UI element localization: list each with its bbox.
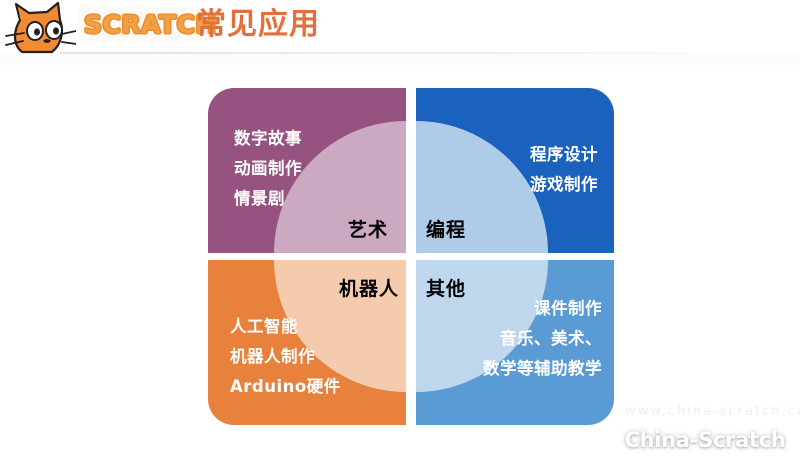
list-item: Arduino硬件: [230, 372, 341, 402]
quadrant-programming-label: 编程: [426, 215, 466, 242]
page-title: 常见应用: [196, 6, 320, 44]
application-areas-diagram: 数字故事 动画制作 情景剧 程序设计 游戏制作 人工智能 机器人制作 Ardui…: [208, 88, 614, 425]
header-shadow: [0, 54, 800, 70]
page-header: SCRATCH 常见应用: [0, 0, 800, 56]
quadrant-robotics-label: 机器人: [339, 274, 399, 301]
watermark: China-Scratch: [615, 424, 795, 456]
quadrant-robotics-items: 人工智能 机器人制作 Arduino硬件: [230, 312, 341, 402]
list-item: 课件制作: [483, 294, 602, 324]
list-item: 数字故事: [234, 124, 302, 154]
list-item: 人工智能: [230, 312, 341, 342]
scratch-cat-icon: [2, 0, 76, 54]
list-item: 情景剧: [234, 184, 302, 214]
list-item: 机器人制作: [230, 342, 341, 372]
list-item: 动画制作: [234, 154, 302, 184]
quadrant-art-items: 数字故事 动画制作 情景剧: [234, 124, 302, 214]
list-item: 游戏制作: [530, 170, 598, 200]
list-item: 音乐、美术、: [483, 324, 602, 354]
quadrant-other-label: 其他: [426, 274, 466, 301]
quadrant-programming-items: 程序设计 游戏制作: [530, 140, 598, 200]
quadrant-other-items: 课件制作 音乐、美术、 数学等辅助教学: [483, 294, 602, 384]
quadrant-art-label: 艺术: [348, 215, 388, 242]
list-item: 程序设计: [530, 140, 598, 170]
list-item: 数学等辅助教学: [483, 354, 602, 384]
